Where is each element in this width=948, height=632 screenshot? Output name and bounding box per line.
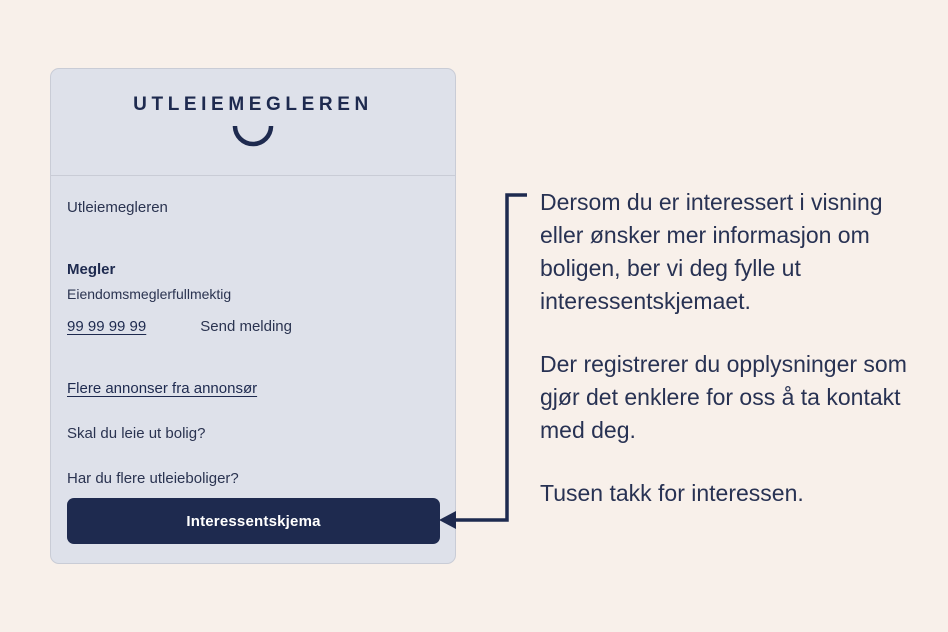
- card-body: Utleiemegleren Megler Eiendomsmeglerfull…: [51, 176, 455, 489]
- agent-job-title: Eiendomsmeglerfullmektig: [67, 284, 439, 304]
- smile-arc-icon: [232, 125, 274, 147]
- more-rental-homes-link[interactable]: Har du flere utleieboliger?: [67, 469, 439, 489]
- annotation-text-block: Dersom du er interessert i visning eller…: [540, 186, 912, 510]
- agent-phone-link[interactable]: 99 99 99 99: [67, 317, 146, 337]
- agent-contact-row: 99 99 99 99 Send melding: [67, 317, 439, 337]
- agent-contact-card: UTLEIEMEGLEREN Utleiemegleren Megler Eie…: [50, 68, 456, 564]
- annotation-paragraph-2: Der registrerer du opplysninger som gjør…: [540, 348, 912, 447]
- interest-form-button[interactable]: Interessentskjema: [67, 498, 440, 544]
- organization-name: Utleiemegleren: [67, 198, 439, 218]
- rent-out-home-link[interactable]: Skal du leie ut bolig?: [67, 424, 439, 444]
- callout-connector-arrow: [430, 186, 540, 536]
- card-header: UTLEIEMEGLEREN: [51, 69, 455, 176]
- annotation-paragraph-1: Dersom du er interessert i visning eller…: [540, 186, 912, 318]
- annotation-paragraph-3: Tusen takk for interessen.: [540, 477, 912, 510]
- agent-name: Megler: [67, 260, 439, 280]
- screenshot-canvas: UTLEIEMEGLEREN Utleiemegleren Megler Eie…: [0, 0, 948, 632]
- send-message-link[interactable]: Send melding: [200, 317, 292, 337]
- advertiser-links-block: Flere annonser fra annonsør Skal du leie…: [67, 379, 439, 489]
- more-ads-from-advertiser-link[interactable]: Flere annonser fra annonsør: [67, 379, 257, 399]
- agent-info-block: Megler Eiendomsmeglerfullmektig 99 99 99…: [67, 260, 439, 337]
- brand-wordmark: UTLEIEMEGLEREN: [133, 95, 373, 114]
